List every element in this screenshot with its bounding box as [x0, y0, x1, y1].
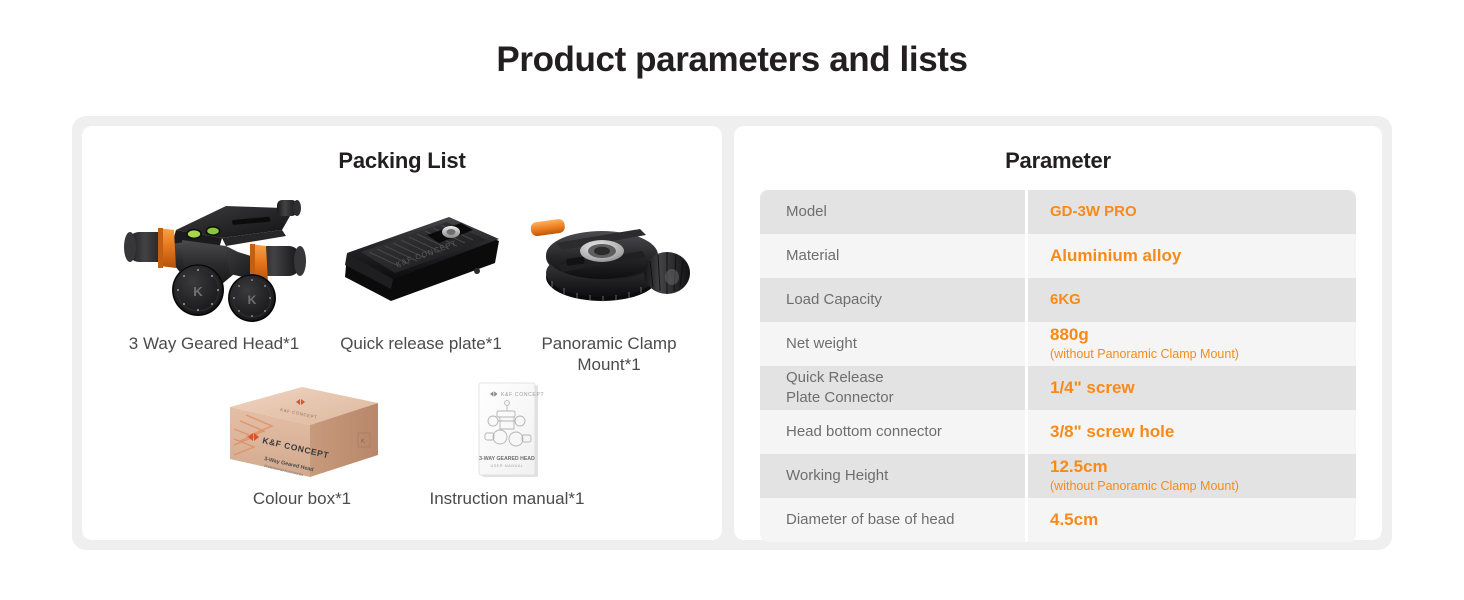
list-item-panoramic-clamp: Panoramic Clamp Mount*1	[519, 182, 699, 375]
parameter-value: Aluminium alloy	[1028, 234, 1356, 278]
list-item-instruction-manual: K&F CONCEPT	[407, 379, 607, 510]
parameter-value: 12.5cm (without Panoramic Clamp Mount)	[1028, 454, 1356, 498]
parameter-label: Working Height	[760, 454, 1028, 498]
panoramic-clamp-mount-image	[522, 182, 697, 332]
quick-release-plate-image: K&F CONCEPT	[331, 182, 511, 332]
table-row: Material Aluminium alloy	[760, 234, 1356, 278]
parameter-value: 6KG	[1028, 278, 1356, 322]
parameter-label: Diameter of base of head	[760, 498, 1028, 542]
svg-text:USER MANUAL: USER MANUAL	[491, 464, 524, 468]
page-title: Product parameters and lists	[0, 0, 1464, 80]
packing-list-heading: Packing List	[82, 126, 722, 174]
list-item-geared-head: K K 3 Way Geared Head	[105, 182, 323, 375]
packing-list-panel: Packing List	[82, 126, 722, 540]
parameter-label: Model	[760, 190, 1028, 234]
svg-text:K: K	[248, 293, 257, 307]
list-item-caption: 3 Way Geared Head*1	[129, 334, 299, 355]
parameter-value: 1/4" screw	[1028, 366, 1356, 410]
parameter-label: Head bottom connector	[760, 410, 1028, 454]
list-item-caption: Instruction manual*1	[430, 489, 585, 510]
packing-list-row-2: K&F CONCEPT 3-Way Geared Head Profession…	[82, 379, 722, 510]
parameter-heading: Parameter	[734, 126, 1382, 174]
list-item-caption: Colour box*1	[253, 489, 351, 510]
svg-text:K: K	[361, 439, 365, 445]
panels-container: Packing List	[72, 116, 1392, 550]
parameter-label: Quick Release Plate Connector	[760, 366, 1028, 410]
parameter-panel: Parameter Model GD-3W PRO Material Alumi…	[734, 126, 1382, 540]
parameter-value: GD-3W PRO	[1028, 190, 1356, 234]
table-row: Load Capacity 6KG	[760, 278, 1356, 322]
table-row: Model GD-3W PRO	[760, 190, 1356, 234]
table-row: Quick Release Plate Connector 1/4" screw	[760, 366, 1356, 410]
svg-text:K: K	[193, 284, 203, 299]
svg-text:K&F CONCEPT: K&F CONCEPT	[501, 392, 544, 398]
parameter-value-note: (without Panoramic Clamp Mount)	[1050, 479, 1356, 495]
parameter-table: Model GD-3W PRO Material Aluminium alloy…	[760, 190, 1356, 542]
parameter-value: 3/8" screw hole	[1028, 410, 1356, 454]
geared-head-image: K K	[114, 182, 314, 332]
list-item-caption: Quick release plate*1	[340, 334, 502, 355]
table-row: Diameter of base of head 4.5cm	[760, 498, 1356, 542]
list-item-quick-release-plate: K&F CONCEPT Quick release plate*1	[323, 182, 519, 375]
svg-text:3-WAY GEARED HEAD: 3-WAY GEARED HEAD	[479, 456, 535, 462]
instruction-manual-image: K&F CONCEPT	[452, 379, 562, 487]
parameter-value-note: (without Panoramic Clamp Mount)	[1050, 347, 1356, 363]
parameter-label: Net weight	[760, 322, 1028, 366]
parameter-value: 880g (without Panoramic Clamp Mount)	[1028, 322, 1356, 366]
table-row: Working Height 12.5cm (without Panoramic…	[760, 454, 1356, 498]
table-row: Head bottom connector 3/8" screw hole	[760, 410, 1356, 454]
list-item-caption: Panoramic Clamp Mount*1	[519, 334, 699, 375]
table-row: Net weight 880g (without Panoramic Clamp…	[760, 322, 1356, 366]
list-item-colour-box: K&F CONCEPT 3-Way Geared Head Profession…	[197, 379, 407, 510]
packing-list-row-1: K K 3 Way Geared Head	[82, 182, 722, 375]
parameter-value: 4.5cm	[1028, 498, 1356, 542]
parameter-label: Material	[760, 234, 1028, 278]
colour-box-image: K&F CONCEPT 3-Way Geared Head Profession…	[218, 379, 386, 487]
parameter-label: Load Capacity	[760, 278, 1028, 322]
